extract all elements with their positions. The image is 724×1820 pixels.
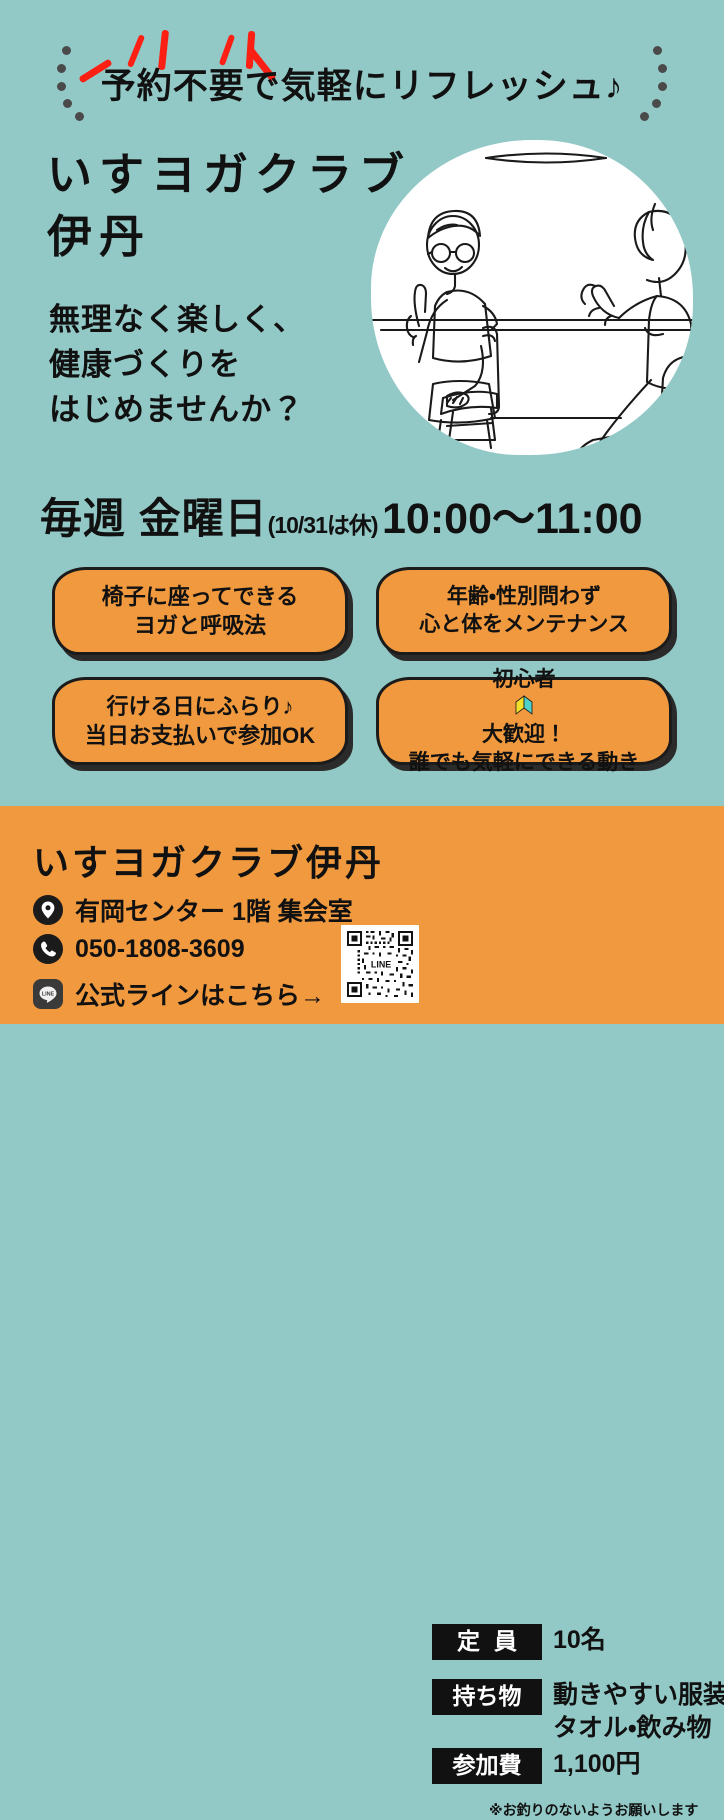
schedule-frequency: 毎週 金曜日 <box>40 495 268 542</box>
contact-address-text: 有岡センター 1階 集会室 <box>75 892 353 928</box>
header-catchphrase: 予約不要で気軽にリフレッシュ♪ <box>0 58 724 109</box>
feature-box-3-line2: 当日お支払いで参加OK <box>85 721 315 750</box>
info-row-fee: 参加費 1,100円 <box>432 1748 641 1784</box>
feature-box-4: 初心者 大歓迎！ 誰でも気軽にできる動き <box>376 677 672 765</box>
feature-box-4-line1-before: 初心者 <box>482 666 566 694</box>
schedule-note: (10/31は休) <box>268 512 378 538</box>
contact-row-phone[interactable]: 050-1808-3609 <box>33 934 245 964</box>
page-title: いすヨガクラブ 伊丹 <box>47 144 411 268</box>
feature-box-3: 行ける日にふらり♪ 当日お支払いで参加OK <box>52 677 348 765</box>
page-title-line1: いすヨガクラブ <box>47 149 411 200</box>
tagline-line2: 健康づくりを <box>49 343 305 388</box>
header-band: 予約不要で気軽にリフレッシュ♪ <box>0 0 724 130</box>
page-title-line2: 伊丹 <box>47 206 411 268</box>
feature-box-4-line1: 初心者 大歓迎！ <box>482 666 566 749</box>
feature-box-2-line2: 心と体をメンテナンス <box>419 611 629 639</box>
feature-box-2-line1: 年齢・性別問わず <box>447 583 601 611</box>
feature-box-2: 年齢・性別問わず 心と体をメンテナンス <box>376 567 672 655</box>
info-label-bring: 持ち物 <box>432 1679 542 1715</box>
poster-root: 予約不要で気軽にリフレッシュ♪ いすヨガクラブ 伊丹 無理なく楽しく、 健康づく… <box>0 0 724 1024</box>
location-pin-icon <box>33 895 63 925</box>
schedule-time: 10:00〜11:00 <box>382 495 643 543</box>
schedule-line: 毎週 金曜日(10/31は休) 10:00〜11:00 <box>40 484 690 546</box>
info-row-capacity: 定員 10名 <box>432 1624 606 1660</box>
illustration-chair-yoga <box>371 140 693 455</box>
info-value-fee-line1: 1,100円 <box>553 1748 641 1781</box>
tagline-line3: はじめませんか？ <box>49 388 305 433</box>
contact-row-line[interactable]: LINE 公式ラインはこちら→ <box>33 976 325 1012</box>
contact-line-text: 公式ラインはこちら→ <box>75 976 325 1012</box>
feature-box-4-line1-after: 大歓迎！ <box>482 721 566 749</box>
info-row-bring: 持ち物 動きやすい服装 タオル・飲み物 <box>432 1679 724 1744</box>
info-value-capacity: 10名 <box>553 1624 606 1657</box>
contact-row-address: 有岡センター 1階 集会室 <box>33 892 353 928</box>
footer-club-name: いすヨガクラブ伊丹 <box>33 834 384 886</box>
info-label-fee: 参加費 <box>432 1748 542 1784</box>
feature-box-1: 椅子に座ってできる ヨガと呼吸法 <box>52 567 348 655</box>
shoshinsha-mark-icon <box>513 695 535 717</box>
tagline: 無理なく楽しく、 健康づくりを はじめませんか？ <box>49 298 305 433</box>
feature-box-1-line2: ヨガと呼吸法 <box>134 611 266 640</box>
info-note: ※お釣りのないようお願いします <box>489 1800 698 1820</box>
phone-icon <box>33 934 63 964</box>
svg-text:LINE: LINE <box>42 991 55 997</box>
line-icon: LINE <box>33 979 63 1009</box>
info-value-fee: 1,100円 <box>553 1748 641 1781</box>
info-value-bring-line2: タオル・飲み物 <box>553 1712 724 1745</box>
line-qr-code[interactable]: LINE <box>341 925 419 1003</box>
info-value-bring: 動きやすい服装 タオル・飲み物 <box>553 1679 724 1744</box>
feature-box-3-line1: 行ける日にふらり♪ <box>106 692 293 721</box>
info-value-capacity-line1: 10名 <box>553 1624 606 1657</box>
tagline-line1: 無理なく楽しく、 <box>49 298 305 343</box>
contact-phone-text: 050-1808-3609 <box>75 935 245 964</box>
info-value-bring-line1: 動きやすい服装 <box>553 1679 724 1712</box>
feature-box-1-line1: 椅子に座ってできる <box>102 582 298 611</box>
info-label-capacity: 定員 <box>432 1624 542 1660</box>
svg-text:LINE: LINE <box>371 960 391 970</box>
feature-box-4-line2: 誰でも気軽にできる動き <box>409 749 640 777</box>
